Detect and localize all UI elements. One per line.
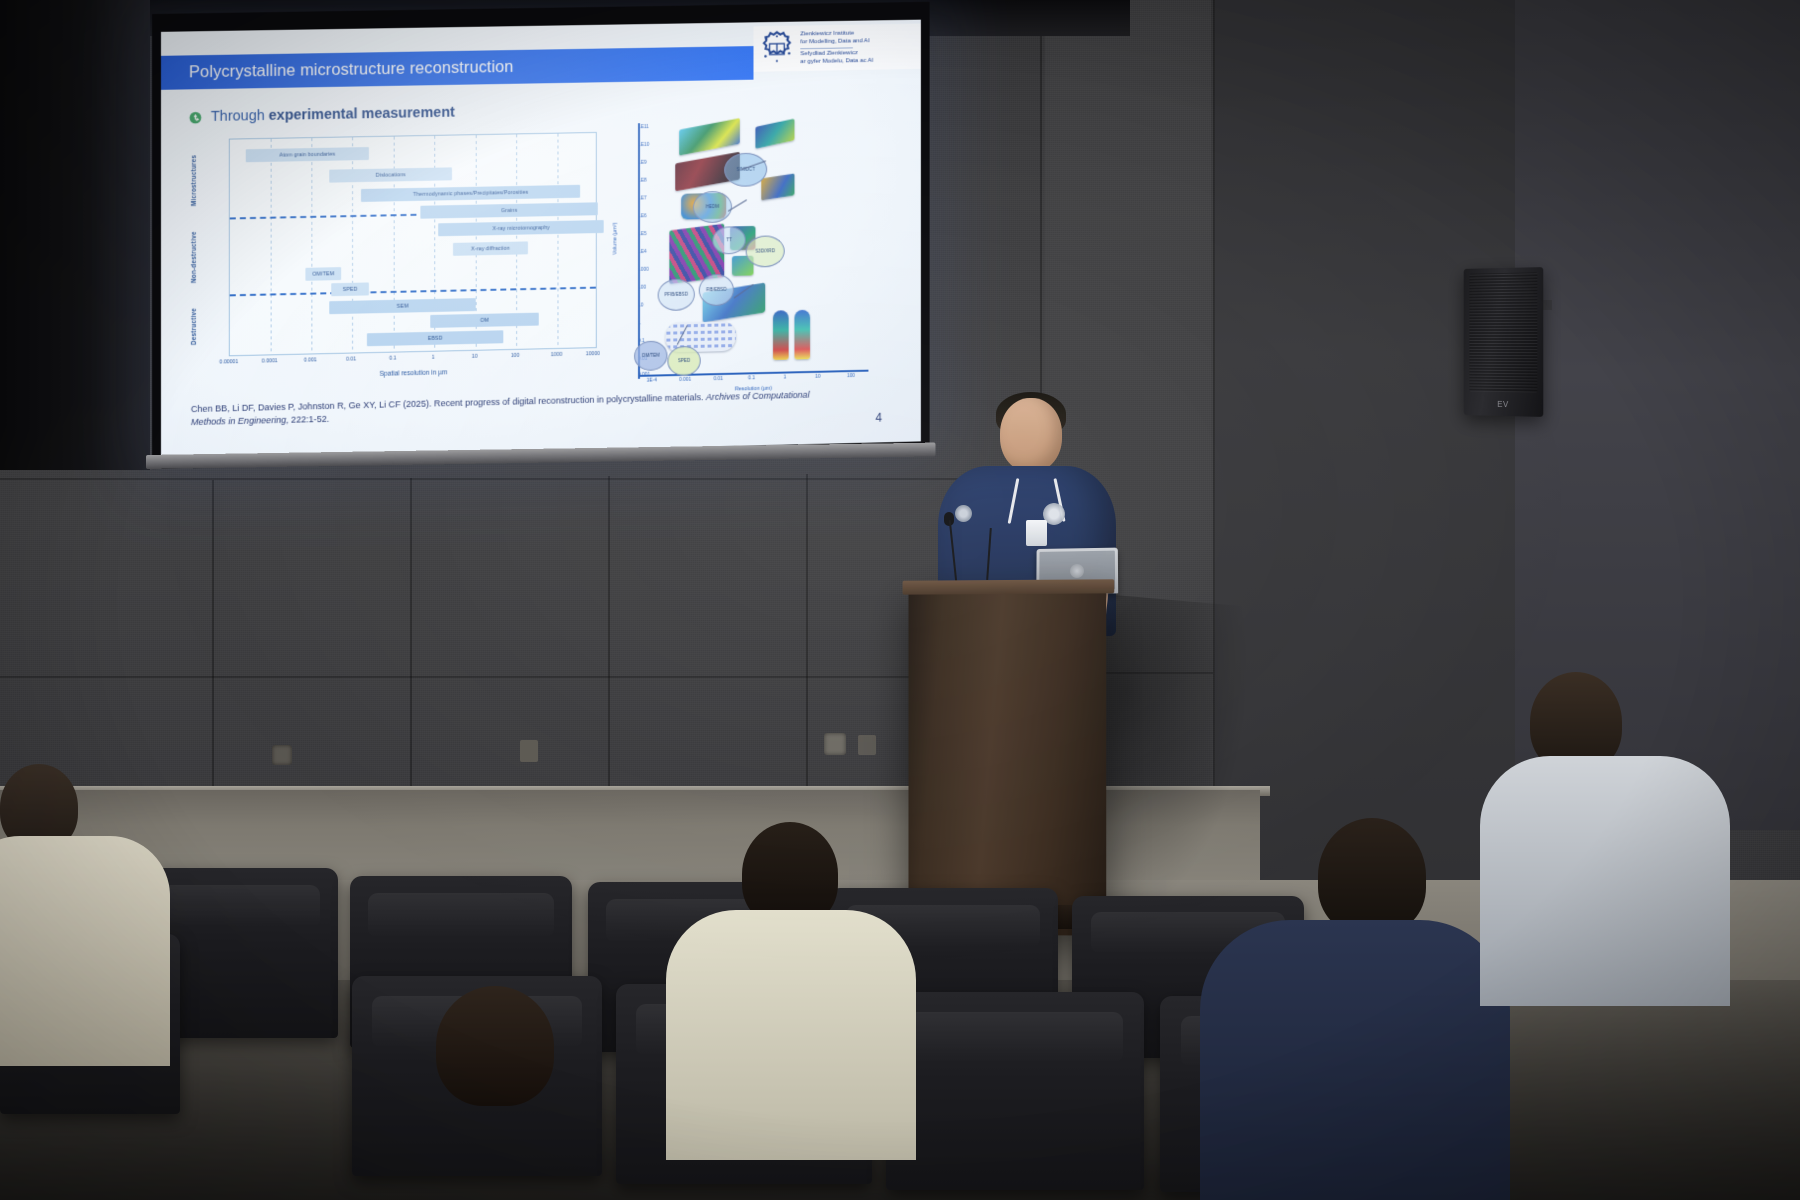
institute-logo: Zienkiewicz Institute for Modelling, Dat… — [753, 24, 920, 72]
bar-om: OM — [430, 313, 539, 328]
chart-group-label-microstructures: Microstructures — [191, 143, 198, 217]
logo-line-en-2: for Modelling, Data and AI — [800, 37, 873, 46]
citation-volume: , 222:1-52. — [286, 414, 329, 425]
wall-seam — [410, 478, 412, 808]
lectern — [909, 589, 1107, 935]
wall-seam — [212, 480, 214, 810]
auditorium-scene: EV Polycrystalline microstructure recons… — [0, 0, 1800, 1200]
bar-dislocations: Dislocations — [329, 167, 452, 182]
logo-text-block: Zienkiewicz Institute for Modelling, Dat… — [800, 29, 873, 65]
pa-speaker-box: EV — [1464, 267, 1544, 417]
laptop-logo — [1070, 563, 1084, 577]
slide-citation: Chen BB, Li DF, Davies P, Johnston R, Ge… — [191, 388, 841, 429]
microstructure-render — [679, 118, 740, 156]
wall-socket[interactable] — [272, 745, 292, 765]
volume-resolution-figure: Volume (µm³) Resolution (µm) 1E11 1E10 1… — [609, 115, 902, 390]
bullet-emphasis: experimental measurement — [269, 105, 455, 124]
microstructure-render — [773, 310, 789, 360]
gear-book-icon — [757, 29, 796, 69]
chart-xtick: 0.001 — [304, 357, 317, 363]
audience-chair — [886, 992, 1144, 1190]
bar-om-tem: OM/TEM — [305, 267, 341, 281]
wall-seam — [0, 478, 1035, 480]
recycle-bullet-icon — [189, 111, 202, 124]
logo-line-cy-2: ar gyfer Modelu, Data ac AI — [800, 57, 873, 66]
audience-body — [0, 836, 170, 1066]
bar-ebsd: EBSD — [367, 330, 503, 346]
audience-body — [1200, 920, 1510, 1200]
projection-screen: Polycrystalline microstructure reconstru… — [152, 2, 930, 469]
bar-sem: SEM — [329, 298, 475, 314]
slide-number: 4 — [876, 411, 882, 425]
figure-xtick: 0.01 — [714, 377, 723, 382]
audience-head — [1318, 818, 1426, 934]
left-dark-wall — [0, 0, 150, 470]
chart-xtick: 10000 — [586, 351, 600, 357]
microstructure-render — [761, 173, 794, 200]
bullet-prefix: Through — [211, 108, 269, 125]
chart-xtick: 0.1 — [389, 356, 396, 362]
chart-xtick: 100 — [511, 353, 520, 359]
presenter-head — [1000, 398, 1062, 472]
chart-plot-area: Atom grain boundaries Dislocations Therm… — [229, 132, 597, 356]
presentation-slide: Polycrystalline microstructure reconstru… — [161, 20, 921, 460]
figure-bubble-s3d-xrd: S3D/XRD — [746, 235, 785, 267]
right-wall-panel — [1215, 0, 1515, 880]
chart-group-label-destructive: Destructive — [191, 297, 198, 355]
figure-bubble-om-tem: OM/TEM — [634, 341, 667, 371]
slide-title-bar: Polycrystalline microstructure reconstru… — [161, 46, 754, 90]
logo-divider — [800, 47, 853, 49]
shirt-logo-left — [955, 505, 972, 522]
chart-group-label-nondestructive: Non-destructive — [191, 221, 198, 293]
wall-socket[interactable] — [520, 740, 538, 762]
chart-xaxis-title: Spatial resolution in µm — [229, 366, 597, 381]
chart-xtick: 1 — [432, 355, 435, 361]
citation-article: Recent progress of digital reconstructio… — [434, 392, 703, 408]
figure-y-axis-label: Volume (µm³) — [613, 222, 619, 254]
audience-body — [666, 910, 916, 1160]
conference-badge — [1026, 520, 1047, 546]
chart-xtick: 0.01 — [346, 356, 356, 362]
chart-xtick: 1000 — [551, 352, 562, 358]
figure-bubble-sped: SPED — [667, 346, 700, 376]
screen-surface: Polycrystalline microstructure reconstru… — [161, 20, 921, 460]
bar-xray-microtomography: X-ray microtomography — [438, 220, 604, 236]
slide-bullet: Through experimental measurement — [189, 105, 455, 126]
chart-xtick: 0.00001 — [219, 359, 238, 365]
wall-socket[interactable] — [858, 735, 876, 755]
bar-thermodynamic-phases: Thermodynamic phases/Precipitates/Porosi… — [361, 185, 580, 202]
figure-bubble-pfib-ebsd: PFIB/EBSD — [658, 279, 695, 311]
band-divider-nondestructive — [230, 287, 596, 297]
bar-sped: SPED — [331, 282, 369, 296]
figure-xtick: 1 — [783, 375, 786, 380]
wall-seam — [608, 476, 610, 806]
audience-head — [436, 986, 554, 1106]
bar-grains: Grains — [420, 202, 597, 218]
figure-xtick: 1E-4 — [647, 378, 657, 383]
bar-xray-diffraction: X-ray diffraction — [453, 241, 528, 255]
figure-bubble-hedm: HEDM — [693, 191, 732, 223]
speaker-brand-label: EV — [1497, 400, 1508, 409]
page-title: Polycrystalline microstructure reconstru… — [161, 57, 513, 82]
wall-socket[interactable] — [824, 733, 846, 755]
audience-body — [1480, 756, 1730, 1006]
slide-bullet-text: Through experimental measurement — [211, 105, 455, 125]
figure-bubble-tt: TT — [712, 226, 745, 254]
figure-xtick: 0.1 — [748, 376, 755, 381]
chart-xtick: 10 — [472, 354, 478, 360]
wall-seam — [0, 676, 1040, 678]
resolution-range-chart: Microstructures Non-destructive Destruct… — [191, 132, 605, 389]
chart-xtick: 0.0001 — [262, 358, 278, 364]
lectern-top-edge — [903, 579, 1115, 594]
bar-atom-grain-boundaries: Atom grain boundaries — [246, 147, 369, 162]
microstructure-render — [794, 310, 810, 360]
wall-seam — [806, 474, 808, 804]
figure-xtick: 100 — [847, 374, 855, 379]
speaker-grille — [1469, 272, 1537, 392]
citation-authors: Chen BB, Li DF, Davies P, Johnston R, Ge… — [191, 399, 432, 415]
figure-xtick: 0.001 — [679, 378, 691, 383]
figure-xtick: 10 — [815, 375, 820, 380]
microstructure-render — [755, 119, 794, 149]
